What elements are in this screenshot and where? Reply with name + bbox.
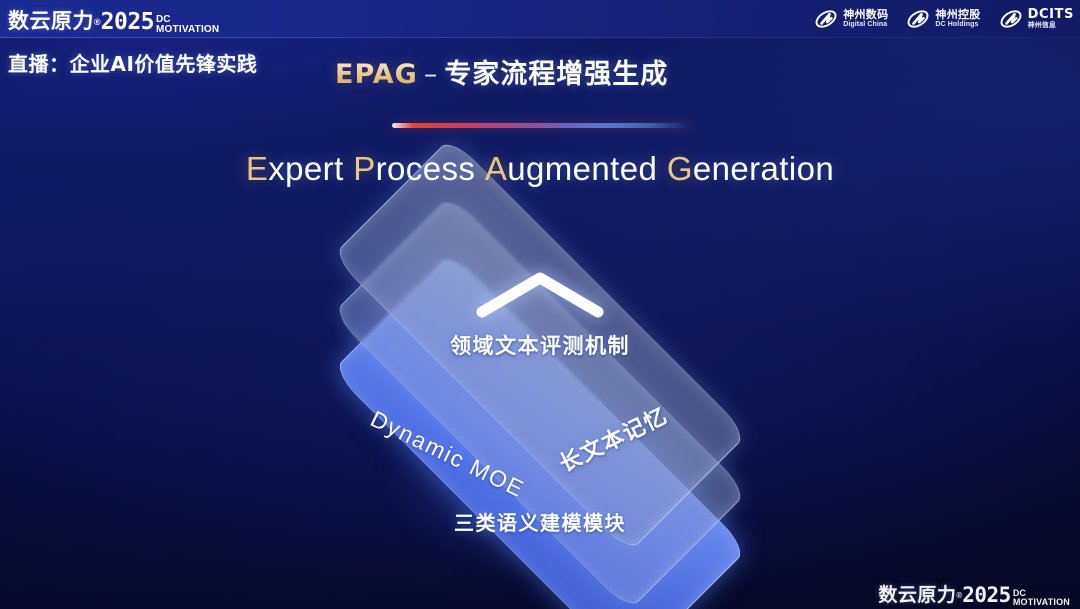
- title-chinese: 专家流程增强生成: [444, 59, 668, 90]
- chevron-up-icon: [474, 268, 606, 320]
- partner-logo-text: 神州控股 DC Holdings: [935, 9, 980, 28]
- subtitle-cap-g: G: [667, 150, 693, 187]
- brand-dc-block: DC MOTIVATION: [156, 15, 219, 35]
- brand-motivation: MOTIVATION: [156, 25, 219, 35]
- divider-bar: [392, 123, 692, 128]
- watermark-registered-mark: ®: [956, 591, 962, 600]
- title-dash: –: [418, 59, 445, 90]
- partner-logo-dc-holdings: 神州控股 DC Holdings: [906, 7, 980, 31]
- slide-canvas: 数云原力 ® 2025 DC MOTIVATION 神州数码 Digital C…: [0, 0, 1080, 609]
- brand-year: 2025: [101, 9, 154, 35]
- partner-name-cn: 神州控股: [935, 9, 980, 21]
- partner-logo-digital-china: 神州数码 Digital China: [814, 7, 888, 31]
- brand-registered-mark: ®: [94, 17, 101, 27]
- partner-logo-group: 神州数码 Digital China 神州控股 DC Holdings: [814, 4, 1074, 34]
- brand-name-cn: 数云原力: [8, 5, 94, 35]
- page-title: EPAG–专家流程增强生成: [335, 52, 668, 91]
- watermark-dc-block: DC MOTIVATION: [1013, 589, 1070, 607]
- partner-name-en: DC Holdings: [935, 21, 980, 29]
- swirl-logo-icon: [906, 7, 930, 31]
- watermark-year: 2025: [962, 583, 1011, 607]
- subtitle: Expert Process Augmented Generation: [0, 150, 1080, 188]
- brand-logo: 数云原力 ® 2025 DC MOTIVATION: [8, 5, 219, 35]
- subtitle-cap-p: P: [353, 150, 375, 187]
- partner-logo-dcits: DCITS 神州信息: [999, 7, 1074, 31]
- layered-architecture-diagram: 领域文本评测机制 Dynamic MOE 长文本记忆 三类语义建模模块: [0, 0, 1080, 609]
- footer-watermark: 数云原力 ® 2025 DC MOTIVATION: [878, 580, 1070, 607]
- subtitle-word-augmented: ugmented: [507, 150, 657, 187]
- watermark-motivation: MOTIVATION: [1013, 598, 1070, 607]
- partner-name-cn: 神州数码: [843, 9, 888, 21]
- subtitle-word-generation: eneration: [693, 150, 834, 187]
- subtitle-word-process: rocess: [376, 150, 476, 187]
- title-acronym: EPAG: [335, 59, 418, 90]
- diagram-layer-top-label: 领域文本评测机制: [0, 330, 1080, 360]
- partner-name-en: Digital China: [843, 21, 888, 29]
- partner-name-en: 神州信息: [1028, 22, 1074, 30]
- subtitle-cap-e: E: [246, 150, 268, 187]
- swirl-logo-icon: [999, 7, 1023, 31]
- subtitle-word-expert: xpert: [268, 150, 343, 187]
- live-stream-label: 直播：企业AI价值先锋实践: [8, 48, 257, 77]
- watermark-name-cn: 数云原力: [878, 580, 956, 607]
- partner-logo-text: 神州数码 Digital China: [843, 9, 888, 28]
- swirl-logo-icon: [814, 7, 838, 31]
- subtitle-cap-a: A: [485, 150, 507, 187]
- diagram-layer-bottom-label: 三类语义建模模块: [0, 507, 1080, 536]
- partner-name-cn: DCITS: [1028, 8, 1074, 22]
- partner-logo-text: DCITS 神州信息: [1028, 8, 1074, 30]
